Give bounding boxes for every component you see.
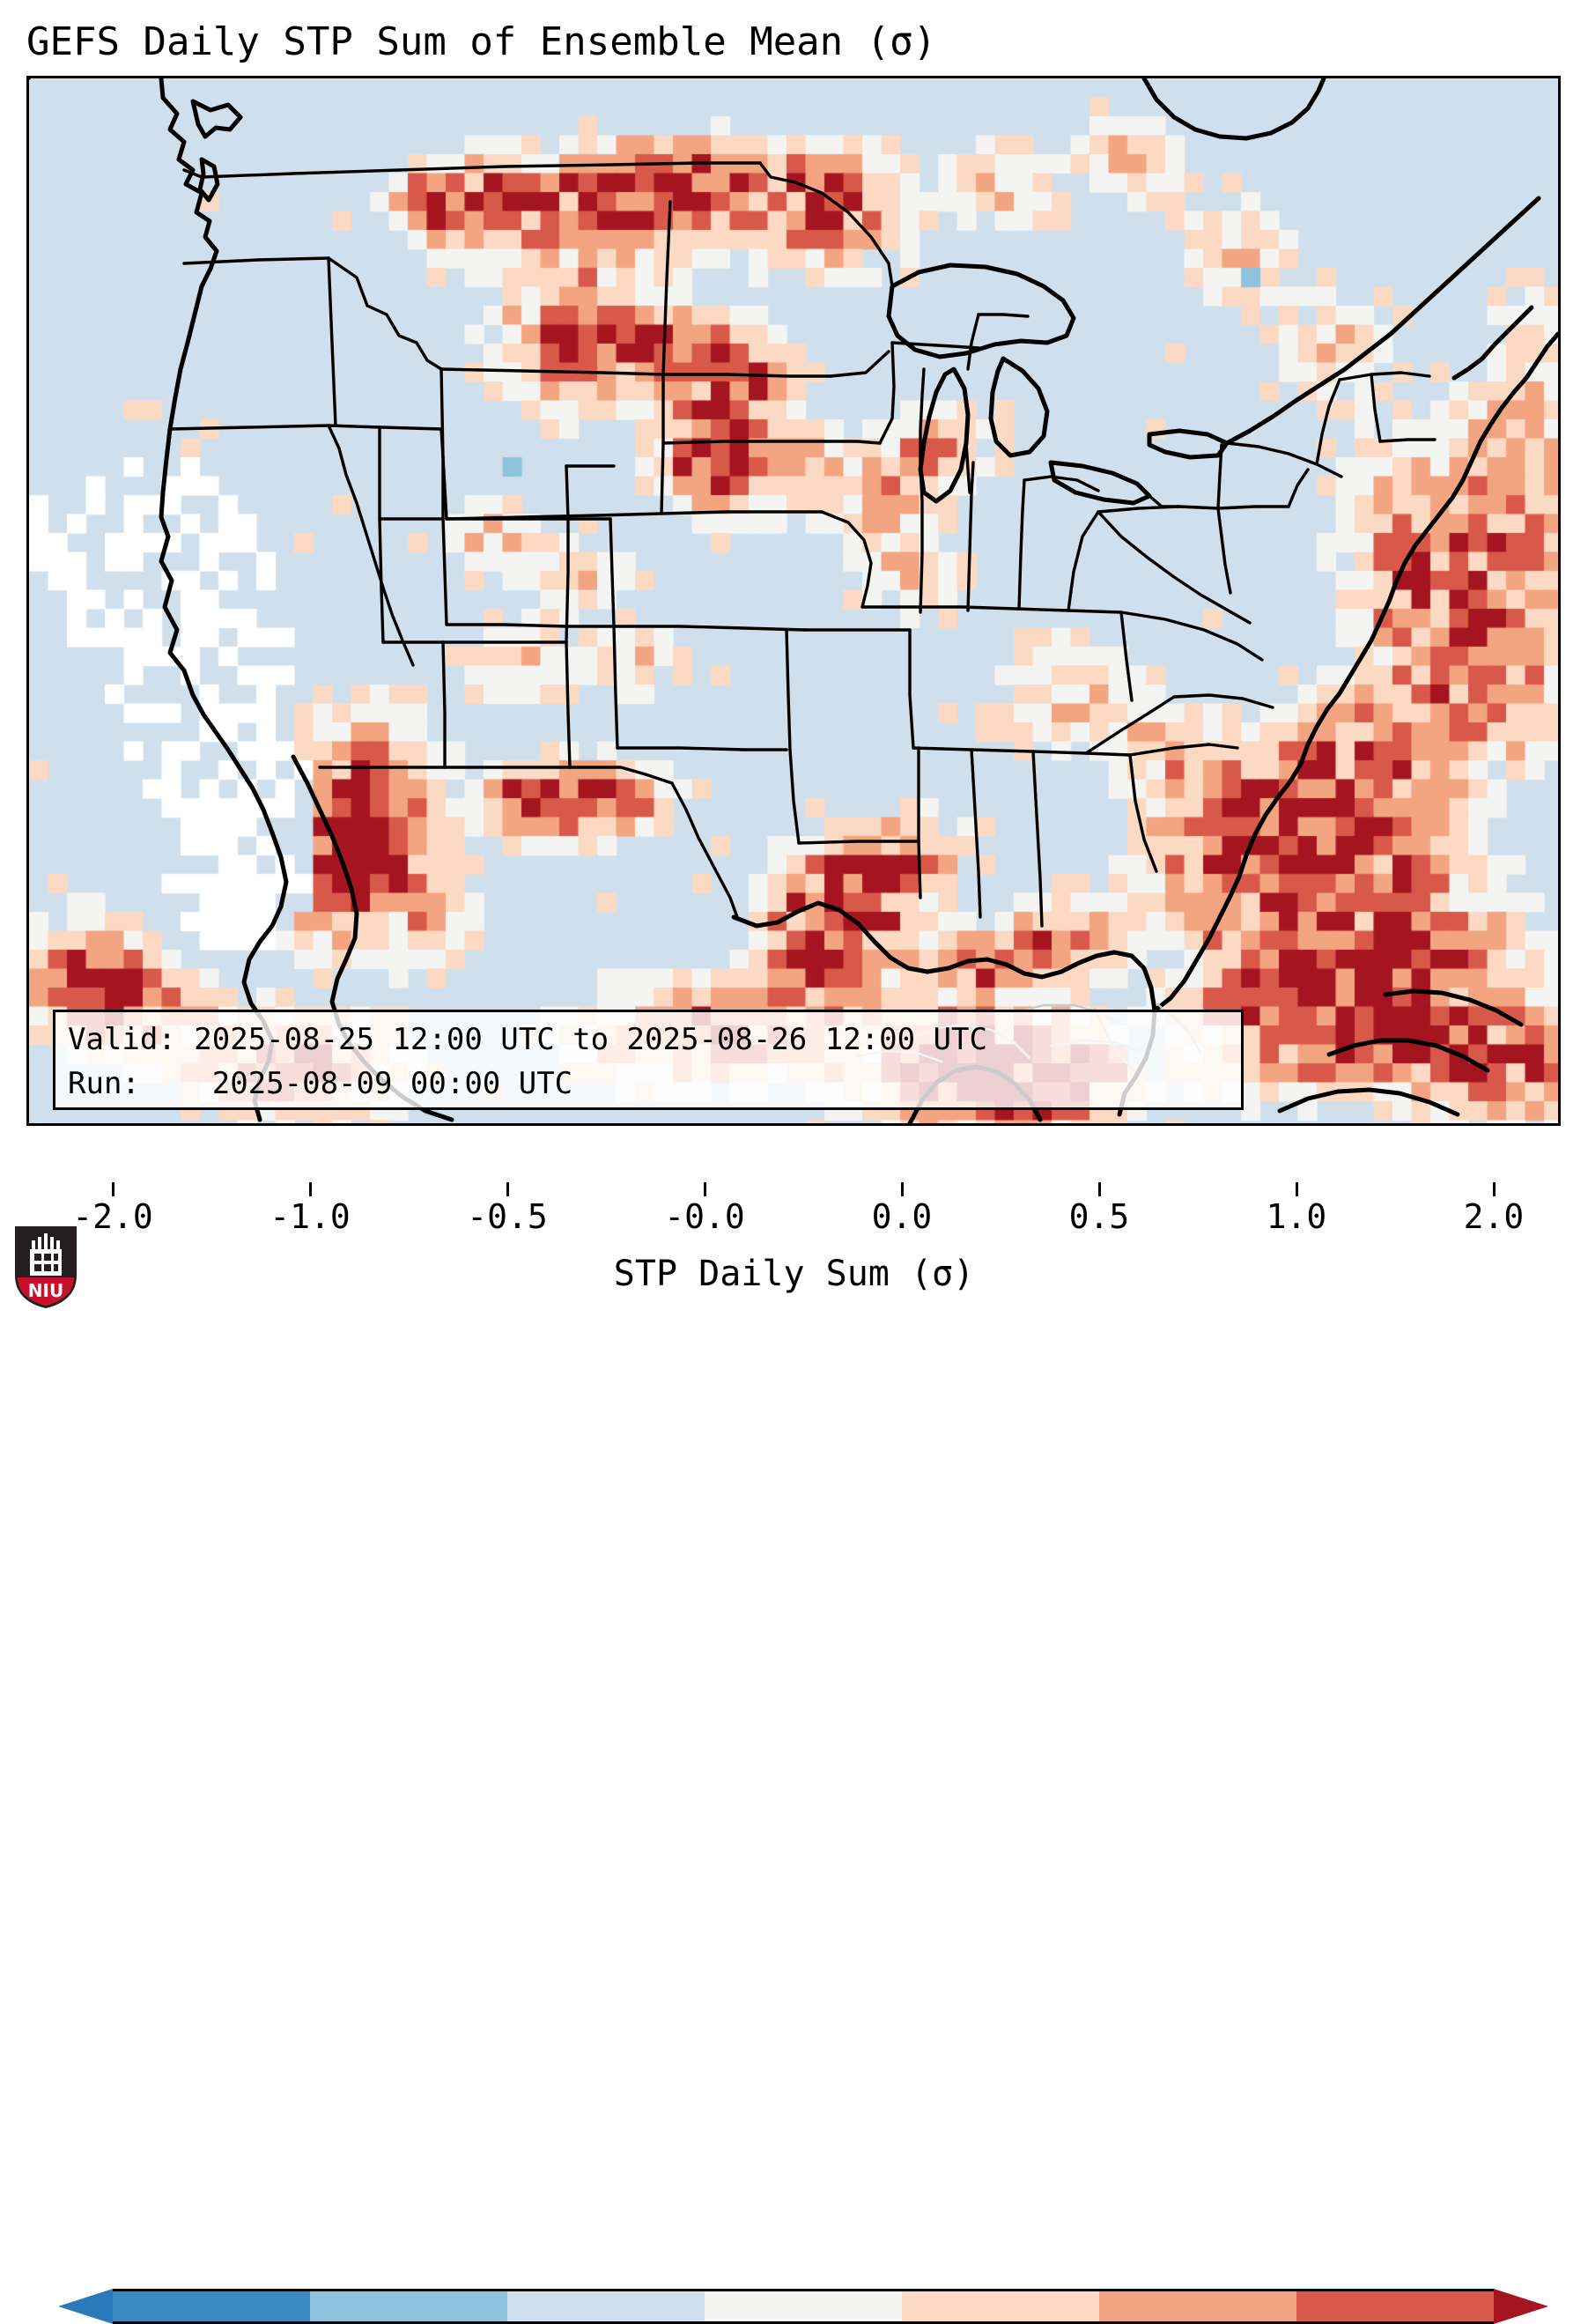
colorbar-segment-1 bbox=[310, 2291, 507, 2321]
state-border-path bbox=[1218, 508, 1230, 593]
coastline-path bbox=[920, 369, 968, 501]
coastline-path bbox=[1280, 1090, 1458, 1114]
coastline-path bbox=[1149, 431, 1227, 457]
state-border-path bbox=[380, 427, 383, 642]
colorbar-segment-0 bbox=[113, 2291, 310, 2321]
state-border-path bbox=[1227, 443, 1341, 477]
run-time-line: Run: 2025-08-09 00:00 UTC bbox=[68, 1062, 1229, 1106]
niu-logo-text: NIU bbox=[28, 1280, 63, 1301]
state-border-path bbox=[831, 352, 889, 376]
state-border-path bbox=[799, 841, 919, 843]
colorbar-tick-7 bbox=[1493, 1182, 1496, 1196]
state-border-path bbox=[760, 163, 892, 286]
colorbar-segment-6 bbox=[1296, 2291, 1494, 2321]
state-border-path bbox=[663, 441, 826, 443]
colorbar-segment-5 bbox=[1099, 2291, 1296, 2321]
colorbar-tick-5 bbox=[1098, 1182, 1101, 1196]
niu-logo: NIU bbox=[12, 1223, 79, 1311]
colorbar-tick-4 bbox=[901, 1182, 904, 1196]
state-border-path bbox=[1130, 755, 1156, 871]
coastline-path bbox=[1385, 991, 1521, 1025]
colorbar-tick-label-4: 0.0 bbox=[872, 1196, 933, 1237]
colorbar-tick-2 bbox=[506, 1182, 509, 1196]
coastline-path bbox=[193, 101, 240, 137]
colorbar-body[interactable] bbox=[113, 2289, 1494, 2324]
state-border-path bbox=[1380, 440, 1435, 441]
colorbar-tick-label-0: -2.0 bbox=[72, 1196, 153, 1237]
state-border-path bbox=[614, 626, 617, 748]
state-border-path bbox=[1098, 507, 1218, 512]
state-border-path bbox=[329, 426, 413, 665]
state-border-path bbox=[787, 630, 790, 750]
state-border-path bbox=[617, 748, 787, 750]
state-border-path bbox=[910, 630, 913, 748]
state-border-path bbox=[329, 426, 441, 429]
coastline-path bbox=[293, 757, 357, 1044]
state-border-path bbox=[1289, 470, 1308, 507]
map-borders-layer bbox=[29, 78, 1558, 1123]
colorbar-segment-4 bbox=[902, 2291, 1099, 2321]
state-border-path bbox=[672, 783, 737, 917]
colorbar-tick-label-3: -0.0 bbox=[664, 1196, 745, 1237]
valid-time-line: Valid: 2025-08-25 12:00 UTC to 2025-08-2… bbox=[68, 1018, 1229, 1062]
colorbar-tick-0 bbox=[112, 1182, 114, 1196]
state-border-path bbox=[966, 443, 970, 492]
colorbar-tick-labels: -2.0-1.0-0.5-0.00.00.51.02.0 bbox=[0, 1196, 1588, 1237]
state-border-path bbox=[570, 767, 672, 783]
state-border-path bbox=[1340, 373, 1429, 380]
coastline-path bbox=[1144, 78, 1324, 138]
colorbar-tick-label-1: -1.0 bbox=[270, 1196, 351, 1237]
state-border-path bbox=[1174, 695, 1273, 707]
state-border-path bbox=[1086, 697, 1174, 753]
state-border-path bbox=[566, 642, 570, 767]
coastline-path bbox=[1454, 307, 1532, 378]
state-border-path bbox=[443, 642, 445, 767]
state-border-path bbox=[1149, 496, 1179, 507]
state-border-path bbox=[790, 750, 799, 843]
colorbar-segment-3 bbox=[705, 2291, 902, 2321]
colorbar-extend-high-arrow bbox=[1494, 2289, 1548, 2324]
state-border-path bbox=[968, 315, 979, 369]
map-panel[interactable] bbox=[26, 76, 1561, 1126]
colorbar-tick-1 bbox=[309, 1182, 312, 1196]
state-border-path bbox=[1068, 512, 1098, 611]
state-border-path bbox=[892, 343, 979, 348]
state-border-path bbox=[441, 429, 443, 457]
state-border-path bbox=[971, 750, 980, 917]
map-clip bbox=[29, 78, 1558, 1123]
colorbar-tick-label-5: 0.5 bbox=[1069, 1196, 1130, 1237]
colorbar-ticks bbox=[0, 1182, 1588, 1196]
state-border-path bbox=[919, 748, 920, 898]
valid-run-infobox: Valid: 2025-08-25 12:00 UTC to 2025-08-2… bbox=[53, 1010, 1244, 1110]
colorbar-tick-3 bbox=[704, 1182, 706, 1196]
state-border-path bbox=[329, 258, 336, 426]
page-title: GEFS Daily STP Sum of Ensemble Mean (σ) bbox=[26, 16, 1524, 69]
state-border-path bbox=[661, 512, 822, 514]
colorbar-title: STP Daily Sum (σ) bbox=[0, 1251, 1588, 1297]
state-border-path bbox=[665, 374, 831, 376]
colorbar-tick-label-6: 1.0 bbox=[1267, 1196, 1327, 1237]
colorbar-tick-label-7: 2.0 bbox=[1464, 1196, 1525, 1237]
state-border-path bbox=[1121, 612, 1132, 700]
state-border-path bbox=[826, 441, 880, 443]
state-border-path bbox=[566, 466, 568, 642]
state-border-path bbox=[862, 607, 1121, 612]
state-border-path bbox=[1218, 507, 1289, 508]
coastline-path bbox=[1329, 1040, 1488, 1070]
state-border-path bbox=[822, 512, 871, 607]
colorbar-extend-low-arrow bbox=[58, 2289, 113, 2324]
state-border-path bbox=[663, 202, 670, 374]
state-border-path bbox=[1317, 380, 1340, 464]
coastline-path bbox=[991, 359, 1047, 455]
state-border-path bbox=[610, 519, 614, 626]
state-border-path bbox=[1019, 480, 1024, 609]
state-border-path bbox=[170, 426, 329, 429]
state-border-path bbox=[202, 163, 760, 177]
state-border-path bbox=[979, 315, 1028, 316]
state-border-path bbox=[447, 625, 614, 626]
state-border-path bbox=[1130, 744, 1237, 755]
state-border-path bbox=[184, 258, 329, 263]
colorbar-segment-2 bbox=[507, 2291, 705, 2321]
colorbar-tick-6 bbox=[1296, 1182, 1298, 1196]
coastline-path bbox=[200, 159, 218, 200]
coastline-path bbox=[161, 78, 286, 1120]
state-border-path bbox=[920, 466, 922, 612]
coastline-path bbox=[1526, 334, 1558, 378]
state-border-path bbox=[913, 748, 1130, 755]
state-border-path bbox=[1371, 374, 1380, 441]
state-border-path bbox=[614, 626, 804, 630]
niu-shield-icon: NIU bbox=[12, 1223, 79, 1311]
coastline-path bbox=[1227, 198, 1539, 443]
state-border-path bbox=[1033, 751, 1042, 926]
state-border-path bbox=[441, 369, 663, 374]
coastline-path bbox=[1051, 463, 1149, 503]
colorbar-tick-label-2: -0.5 bbox=[467, 1196, 548, 1237]
state-border-path bbox=[329, 258, 441, 369]
